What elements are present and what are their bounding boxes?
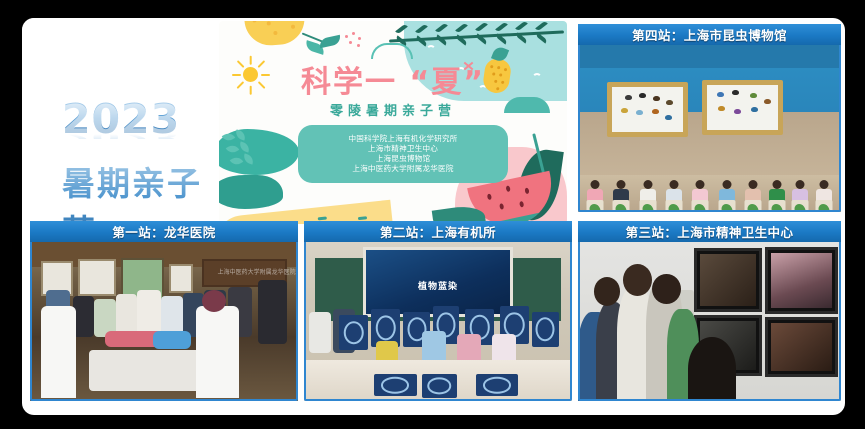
- panel-station-3[interactable]: 第三站：上海市精神卫生中心: [578, 221, 841, 401]
- organizer-line: 上海昆虫博物馆: [376, 154, 431, 164]
- photo-station-2: 植物蓝染: [304, 242, 572, 401]
- leaf-icon: [318, 35, 341, 48]
- year-reflection: 2023: [62, 134, 227, 139]
- panel-title-bar-station-1: 第一站：龙华医院: [30, 221, 298, 242]
- photo-station-1: 上海中医药大学附属龙华医院: [30, 242, 298, 401]
- panel-station-2[interactable]: 第二站：上海有机所 植物蓝染: [304, 221, 572, 401]
- panel-title-station-4: 第四站：上海市昆虫博物馆: [632, 25, 787, 44]
- panel-station-4[interactable]: 第四站：上海市昆虫博物馆: [578, 24, 841, 212]
- yellow-blob-decoration: [244, 21, 306, 47]
- poster-main-title: 科学一 “夏”: [219, 57, 567, 101]
- photo-station-3: [578, 242, 841, 401]
- panel-station-1[interactable]: 第一站：龙华医院 上海中医药大学附属龙华医院: [30, 221, 298, 401]
- panel-title-bar-station-2: 第二站：上海有机所: [304, 221, 572, 242]
- screenshot-root: 2023 2023 暑期亲子营 暑期亲子营: [0, 0, 865, 429]
- organizer-line: 中国科学院上海有机化学研究所: [348, 134, 457, 144]
- poster-sub-title: 零陵暑期亲子营: [219, 100, 567, 119]
- panel-title-station-3: 第三站：上海市精神卫生中心: [626, 222, 794, 241]
- panel-title-station-2: 第二站：上海有机所: [380, 222, 496, 241]
- dots-decoration: [345, 35, 348, 38]
- panel-title-bar-station-3: 第三站：上海市精神卫生中心: [578, 221, 841, 242]
- illustration-panel: 科学一 “夏” 零陵暑期亲子营 中国科学院上海有机化学研究所 上海市精神卫生中心…: [219, 21, 567, 224]
- organizer-line: 上海中医药大学附属龙华医院: [352, 164, 453, 174]
- projector-screen-text: 植物蓝染: [366, 279, 510, 292]
- poster-card: 2023 2023 暑期亲子营 暑期亲子营: [22, 18, 845, 415]
- vine-decoration: [389, 25, 564, 47]
- organizer-box: 中国科学院上海有机化学研究所 上海市精神卫生中心 上海昆虫博物馆 上海中医药大学…: [298, 125, 508, 183]
- photo-station-4: [578, 45, 841, 212]
- panel-title-bar-station-4: 第四站：上海市昆虫博物馆: [578, 24, 841, 45]
- panel-title-station-1: 第一站：龙华医院: [112, 222, 215, 241]
- organizer-line: 上海市精神卫生中心: [368, 144, 438, 154]
- hero-banner: 2023 2023 暑期亲子营 暑期亲子营: [22, 18, 574, 227]
